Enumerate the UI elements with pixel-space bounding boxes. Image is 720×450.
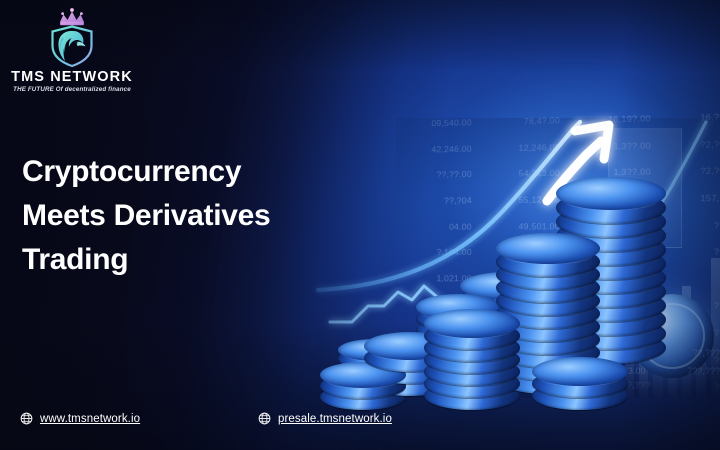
headline-line-1: Cryptocurrency [22, 150, 352, 194]
globe-icon [258, 412, 271, 425]
brand-logo[interactable]: TMS NETWORK THE FUTURE Of decentralized … [8, 6, 136, 93]
footer-link-presale[interactable]: presale.tmsnetwork.io [258, 412, 392, 425]
headline-line-2: Meets Derivatives [22, 194, 352, 238]
coin-stack [424, 309, 520, 410]
coin-stack [532, 357, 628, 410]
brand-tagline: THE FUTURE Of decentralized finance [8, 86, 136, 93]
footer-link-presale-label: presale.tmsnetwork.io [278, 413, 392, 425]
footer-link-website[interactable]: www.tmsnetwork.io [20, 412, 140, 425]
footer-link-website-label: www.tmsnetwork.io [40, 413, 140, 425]
coin [532, 357, 628, 386]
coin [556, 177, 666, 210]
brand-name: TMS NETWORK [8, 69, 136, 85]
promo-banner: 09,540.0078,4?.0016,19?.0016,?80.0042,24… [0, 0, 720, 450]
coin [424, 309, 520, 338]
headline-line-3: Trading [22, 238, 352, 282]
headline: Cryptocurrency Meets Derivatives Trading [22, 150, 352, 282]
lion-shield-crown-icon [40, 6, 104, 68]
globe-icon [20, 412, 33, 425]
coin [496, 233, 600, 264]
